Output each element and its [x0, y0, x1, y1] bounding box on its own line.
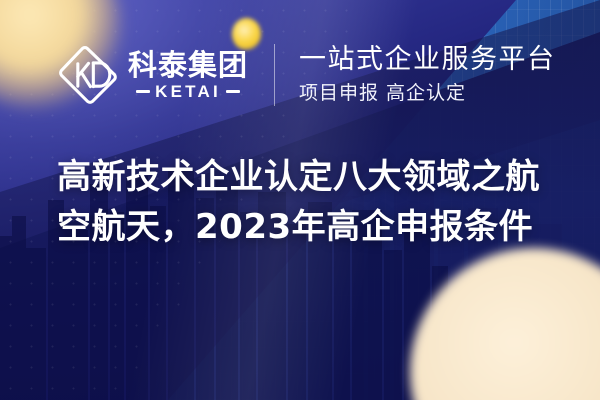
brand-dash-right-icon [226, 90, 240, 93]
banner-headline: 高新技术企业认定八大领域之航空航天，2023年高企申报条件 [57, 152, 557, 253]
tagline-block: 一站式企业服务平台 项目申报 高企认定 [299, 45, 556, 105]
brand-dash-left-icon [136, 90, 150, 93]
banner-header: 科泰集团 KETAI 一站式企业服务平台 项目申报 高企认定 [57, 44, 556, 106]
promo-banner: 科泰集团 KETAI 一站式企业服务平台 项目申报 高企认定 高新技术企业认定八… [0, 0, 600, 400]
ketai-diamond-kd-monogram-icon [57, 44, 119, 106]
brand-name-en-row: KETAI [136, 83, 240, 100]
tagline-primary: 一站式企业服务平台 [299, 45, 556, 76]
tagline-secondary: 项目申报 高企认定 [299, 82, 556, 105]
header-vertical-divider [274, 44, 275, 106]
brand-lockup: 科泰集团 KETAI [57, 44, 248, 106]
brand-text-block: 科泰集团 KETAI [128, 50, 248, 101]
brand-name-cn: 科泰集团 [128, 50, 248, 81]
brand-name-en: KETAI [155, 83, 221, 100]
